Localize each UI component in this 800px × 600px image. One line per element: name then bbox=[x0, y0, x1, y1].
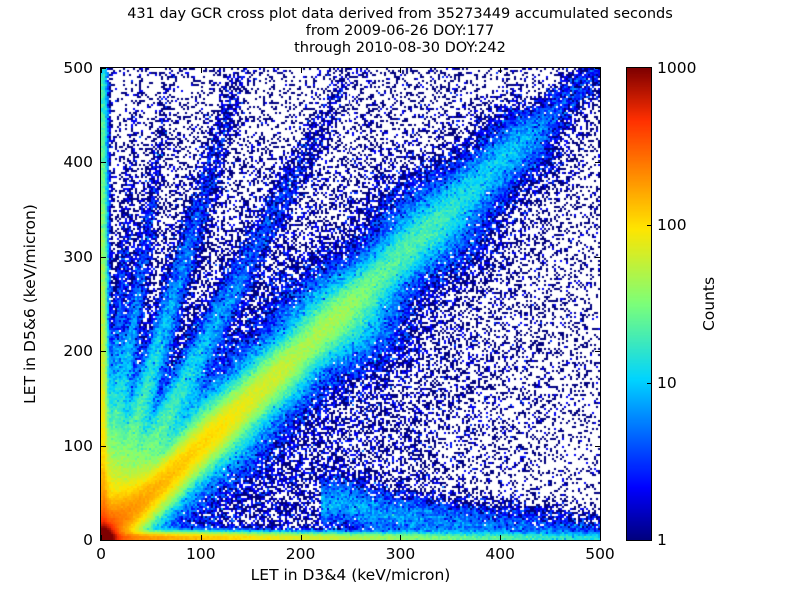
x-tick bbox=[500, 535, 501, 540]
x-tick-top bbox=[400, 68, 401, 73]
colorbar-label: Counts bbox=[700, 277, 718, 331]
y-tick bbox=[101, 446, 106, 447]
colorbar-tick bbox=[647, 225, 652, 226]
colorbar bbox=[626, 67, 652, 541]
y-tick-right bbox=[595, 257, 600, 258]
y-tick-label: 100 bbox=[63, 437, 93, 455]
y-tick-right bbox=[595, 68, 600, 69]
y-tick bbox=[101, 257, 106, 258]
heatmap-scatter-canvas bbox=[101, 68, 600, 540]
title-line-3: through 2010-08-30 DOY:242 bbox=[0, 40, 800, 57]
x-tick-top bbox=[201, 68, 202, 73]
colorbar-tick bbox=[647, 383, 652, 384]
y-tick bbox=[101, 162, 106, 163]
colorbar-tick-label: 100 bbox=[657, 216, 687, 234]
colorbar-tick-label: 10 bbox=[657, 374, 677, 392]
y-tick-right bbox=[595, 162, 600, 163]
y-axis-label: LET in D5&6 (keV/micron) bbox=[21, 204, 39, 404]
y-tick-label: 200 bbox=[63, 342, 93, 360]
colorbar-gradient bbox=[627, 68, 651, 540]
y-tick bbox=[101, 68, 106, 69]
x-tick-top bbox=[600, 68, 601, 73]
y-tick-label: 0 bbox=[83, 531, 93, 549]
title-line-2: from 2009-06-26 DOY:177 bbox=[0, 23, 800, 40]
x-tick bbox=[201, 535, 202, 540]
figure-canvas: 431 day GCR cross plot data derived from… bbox=[0, 0, 800, 600]
x-tick-label: 100 bbox=[186, 545, 216, 563]
y-tick-label: 400 bbox=[63, 153, 93, 171]
y-tick bbox=[101, 351, 106, 352]
x-tick-label: 0 bbox=[96, 545, 106, 563]
x-tick bbox=[301, 535, 302, 540]
plot-area bbox=[100, 67, 601, 541]
y-tick-label: 300 bbox=[63, 248, 93, 266]
x-tick-label: 200 bbox=[286, 545, 316, 563]
x-tick-label: 500 bbox=[585, 545, 615, 563]
y-tick-right bbox=[595, 351, 600, 352]
y-tick-right bbox=[595, 446, 600, 447]
colorbar-tick-label: 1000 bbox=[657, 59, 696, 77]
colorbar-tick-label: 1 bbox=[657, 531, 667, 549]
figure-title: 431 day GCR cross plot data derived from… bbox=[0, 6, 800, 57]
x-tick-top bbox=[500, 68, 501, 73]
x-tick-label: 300 bbox=[386, 545, 416, 563]
x-tick-top bbox=[301, 68, 302, 73]
title-line-1: 431 day GCR cross plot data derived from… bbox=[0, 6, 800, 23]
y-tick-label: 500 bbox=[63, 59, 93, 77]
x-axis-label: LET in D3&4 (keV/micron) bbox=[100, 566, 601, 584]
x-tick bbox=[600, 535, 601, 540]
x-tick-label: 400 bbox=[485, 545, 515, 563]
y-tick-right bbox=[595, 540, 600, 541]
x-tick bbox=[400, 535, 401, 540]
y-tick bbox=[101, 540, 106, 541]
